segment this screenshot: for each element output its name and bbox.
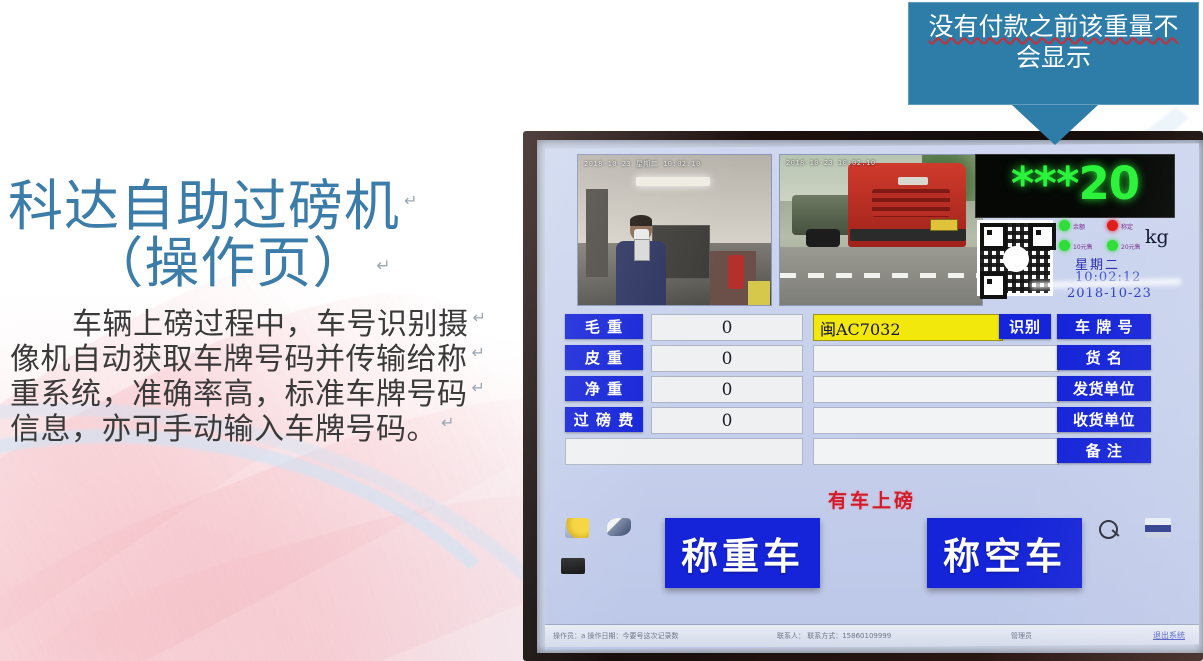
form-row-net: 净 重 0 发货单位 [565,376,1187,403]
paragraph-mark-title2: ↵ [376,256,391,276]
paragraph-mark-4: ↵ [441,413,455,432]
form-row-fee: 过 磅 费 0 收货单位 [565,407,1187,434]
paragraph-mark-2: ↵ [472,343,486,362]
value-gross-weight[interactable]: 0 [651,314,803,341]
callout-text: 没有付款之前该重量不 会显示 [908,2,1199,73]
recognize-button[interactable]: 识别 [999,314,1051,339]
plate-number-input[interactable]: 闽AC7032 [813,314,1003,341]
label-gross-weight: 毛 重 [565,314,643,339]
label-shipper: 发货单位 [1057,376,1151,401]
indicator-label-balance: 余额 [1073,222,1085,231]
label-consignee: 收货单位 [1057,407,1151,432]
paragraph-mark-1: ↵ [473,308,487,327]
paragraph-mark-title: ↵ [404,191,418,210]
statusbar-role: 管理员 [1011,631,1032,641]
weighing-application: 2018-10-23 星期二 10:02:10 2018-10-23 10:02… [545,143,1199,649]
date-label: 2018-10-23 [1067,286,1152,301]
bird-icon[interactable] [607,518,631,536]
label-net-weight: 净 重 [565,376,643,401]
form-row-remark: 备 注 [565,438,1187,465]
consignee-input[interactable] [813,407,1059,434]
search-icon[interactable] [1099,520,1121,542]
label-tare-weight: 皮 重 [565,345,643,370]
body-line-2: 像机自动获取车牌号码并传输给称 [10,342,468,377]
label-goods-name: 货 名 [1057,345,1151,370]
goods-name-input[interactable] [813,345,1059,372]
indicator-lamp-weighing [1107,220,1118,231]
statusbar-operator: 操作员：a 操作日期：今要号这次记录数 [553,631,679,641]
qr-eye-top-right [1029,223,1056,250]
paragraph-mark-3: ↵ [472,378,486,397]
page-title-line2: （操作页） [88,231,368,295]
weighing-form: 毛 重 0 闽AC7032 识别 车 牌 号 皮 重 0 货 名 净 重 0 [559,314,1189,472]
driver-camera-feed[interactable]: 2018-10-23 星期二 10:02:10 [577,154,772,306]
indicator-label-weighing: 称定 [1121,222,1133,231]
statusbar-contact: 联系人： 联系方式：15860109999 [777,631,891,641]
label-plate-number: 车 牌 号 [1057,314,1151,339]
driver-camera-timestamp: 2018-10-23 星期二 10:02:10 [584,159,701,169]
led-display: ***20 [975,154,1175,218]
body-line-1: 车辆上磅过程中，车号识别摄 [72,307,469,342]
indicator-lamp-coin20 [1107,240,1118,251]
indicator-label-coin10: 10元售 [1073,242,1093,251]
qr-eye-top-left [980,223,1007,250]
truck-camera-timestamp: 2018-10-23 10:02:10 [786,159,876,167]
weigh-empty-button[interactable]: 称空车 [927,518,1082,588]
remark-input[interactable] [813,438,1059,465]
callout-line-1: 没有付款之前该重量不 [914,12,1193,43]
weight-value: ***20 [976,155,1174,213]
value-tare-weight[interactable]: 0 [651,345,803,372]
value-blank[interactable] [565,438,803,465]
callout-box: 没有付款之前该重量不 会显示 [908,2,1199,105]
lightbulb-icon[interactable] [565,518,589,538]
led-weight-panel: ***20 余额 称定 10元售 20元售 kg [975,154,1173,304]
form-row-tare: 皮 重 0 货 名 [565,345,1187,372]
body-line-4: 信息，亦可手动输入车牌号码。 [10,412,437,447]
callout-arrow-icon [1012,105,1098,145]
black-block-icon[interactable] [561,558,585,574]
weighbridge-monitor-photo: 2018-10-23 星期二 10:02:10 2018-10-23 10:02… [523,131,1203,661]
truck-camera-feed[interactable]: 2018-10-23 10:02:10 [779,154,983,306]
indicator-lamp-balance [1059,220,1070,231]
label-weighing-fee: 过 磅 费 [565,407,643,432]
indicator-label-coin20: 20元售 [1121,242,1141,251]
printer-icon[interactable] [1145,518,1171,538]
page-title-line1: 科达自助过磅机 [8,174,400,238]
value-net-weight[interactable]: 0 [651,376,803,403]
status-badge: 有车上磅 [545,486,1199,513]
weigh-loaded-button[interactable]: 称重车 [665,518,820,588]
body-paragraph: 车辆上磅过程中，车号识别摄↵ 像机自动获取车牌号码并传输给称↵ 重系统，准确率高… [0,308,512,447]
shipper-input[interactable] [813,376,1059,403]
application-statusbar: 操作员：a 操作日期：今要号这次记录数 联系人： 联系方式：1586010999… [545,624,1199,647]
body-line-3: 重系统，准确率高，标准车牌号码 [10,377,468,412]
weight-unit: kg [1145,226,1169,248]
indicator-lamp-coin10 [1059,240,1070,251]
callout-line-2: 会显示 [914,43,1193,74]
form-row-gross: 毛 重 0 闽AC7032 识别 车 牌 号 [565,314,1187,341]
slide-text-column: 科达自助过磅机↵ （操作页）↵ 车辆上磅过程中，车号识别摄↵ 像机自动获取车牌号… [0,178,512,448]
statusbar-exit-link[interactable]: 退出系统 [1153,630,1185,641]
value-weighing-fee[interactable]: 0 [651,407,803,434]
label-remark: 备 注 [1057,438,1151,463]
page-title: 科达自助过磅机↵ （操作页）↵ [0,178,512,292]
qr-eye-bottom-left [980,272,1007,299]
